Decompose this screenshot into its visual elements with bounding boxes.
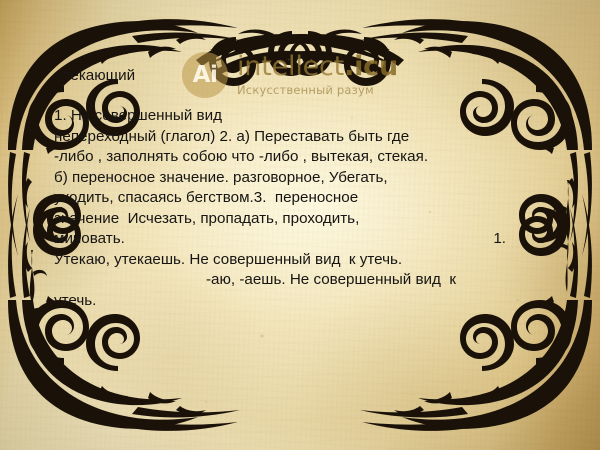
dictionary-article: утекающий 1. Не совершенный вид неперехо… bbox=[54, 66, 554, 311]
dictionary-entry-image: Ai intellect.icu Искусственный разум уте… bbox=[0, 0, 600, 450]
definition-line: 1. Не совершенный вид bbox=[54, 106, 554, 127]
definition-line: значение Исчезать, пропадать, проходить, bbox=[54, 209, 554, 230]
definition-line-with-sense-number: миновать. 1. bbox=[54, 229, 554, 250]
definition-line: непереходный (глагол) 2. а) Переставать … bbox=[54, 127, 554, 148]
headword: утекающий bbox=[56, 66, 554, 86]
definition-line: утечь. bbox=[54, 291, 554, 312]
definition-line: уходить, спасаясь бегством.3. переносное bbox=[54, 188, 554, 209]
definition-line: -либо , заполнять собою что -либо , выте… bbox=[54, 147, 554, 168]
definition-line-indented: -аю, -аешь. Не совершенный вид к bbox=[54, 270, 554, 291]
definition-line: Утекаю, утекаешь. Не совершенный вид к у… bbox=[54, 250, 554, 271]
sense-number: 1. bbox=[493, 229, 506, 250]
definition-line-text: миновать. bbox=[54, 229, 125, 250]
definition-line: б) переносное значение. разговорное, Убе… bbox=[54, 168, 554, 189]
